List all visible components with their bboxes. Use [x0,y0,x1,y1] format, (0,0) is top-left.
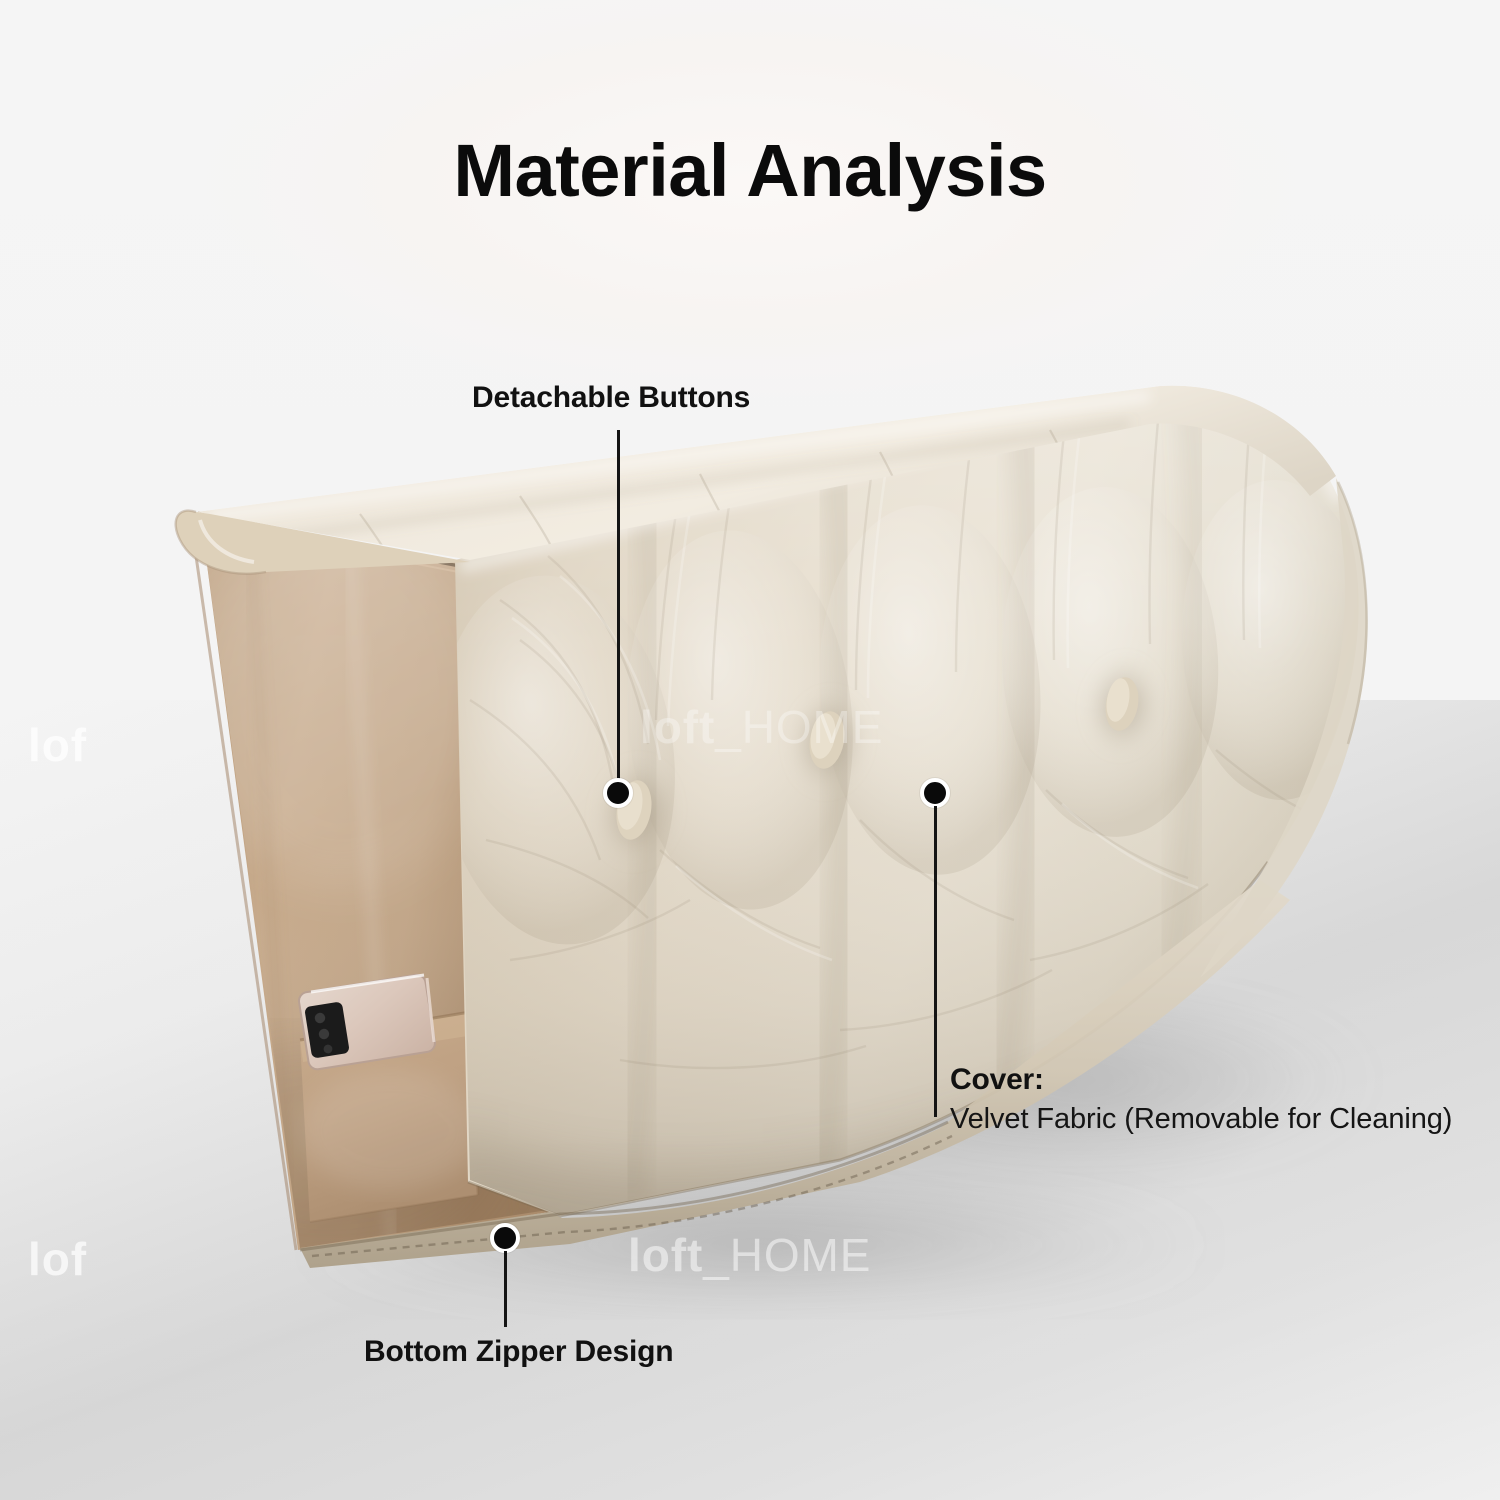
cover-description: Velvet Fabric (Removable for Cleaning) [950,1101,1452,1137]
callout-leader-bottom-zipper [504,1251,507,1327]
page-title: Material Analysis [0,128,1500,213]
callout-dot-cover[interactable] [920,778,950,808]
cover-title: Cover: [950,1062,1452,1097]
callout-label-detachable-buttons: Detachable Buttons [472,381,750,415]
callout-leader-detachable-buttons [617,430,620,786]
callout-leader-cover [934,806,937,1117]
product-photo [0,0,1500,1500]
infographic-stage: lof lof loft_HOME loft_HOME Material Ana… [0,0,1500,1500]
callout-dot-detachable-buttons[interactable] [603,778,633,808]
callout-dot-bottom-zipper[interactable] [490,1223,520,1253]
callout-label-bottom-zipper: Bottom Zipper Design [364,1335,673,1369]
callout-label-cover: Cover: Velvet Fabric (Removable for Clea… [950,1062,1452,1138]
